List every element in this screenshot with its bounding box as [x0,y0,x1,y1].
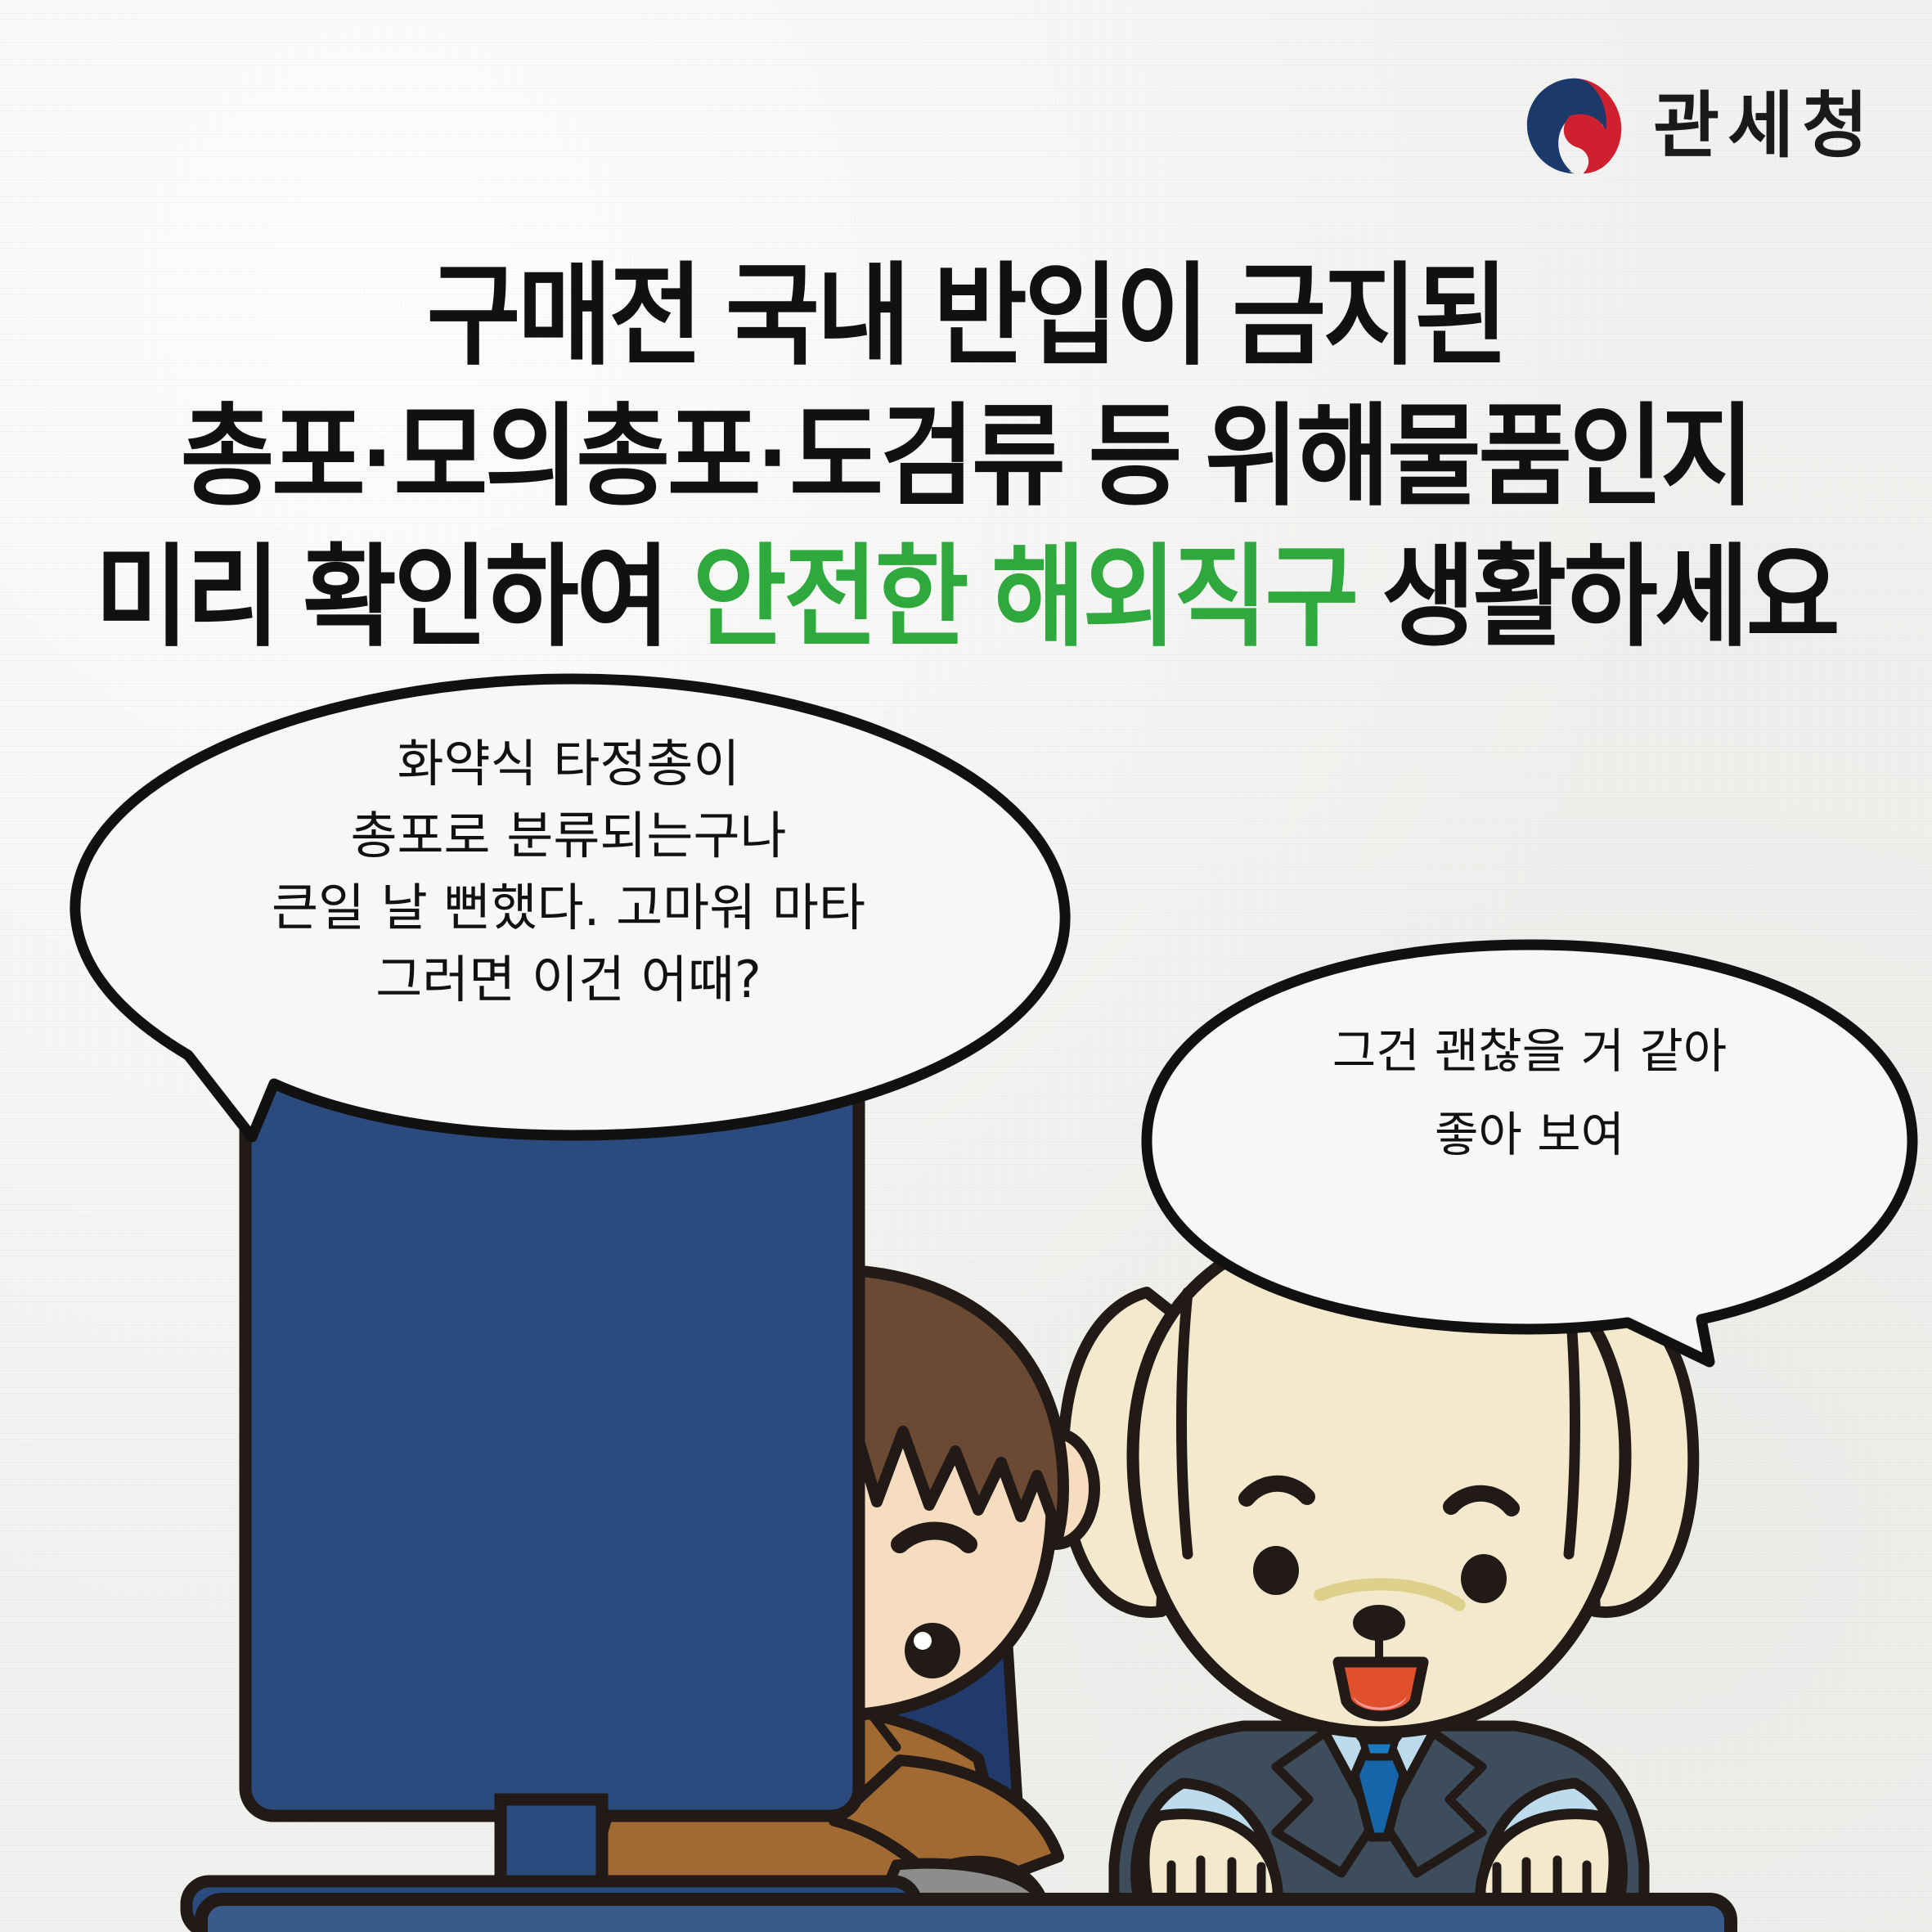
headline-block: 구매전 국내 반입이 금지된 총포·모의총포·도검류 등 위해물품인지 미리 확… [0,260,1932,653]
computer-monitor [186,1047,916,1932]
headline-line-3-highlight: 안전한 해외직구 [693,535,1356,659]
headline-line-2: 총포·모의총포·도검류 등 위해물품인지 [77,401,1854,512]
headline-line-3-before: 미리 확인하여 [95,535,693,659]
korea-government-taegeuk-logo-icon [1521,72,1629,180]
poster-canvas: 관세청 구매전 국내 반입이 금지된 총포·모의총포·도검류 등 위해물품인지 … [0,0,1932,1932]
headline-line-3-after: 생활하세요 [1356,535,1837,659]
desk [201,1899,1731,1932]
speech-bubble-left-text: 화약식 타정총이 총포로 분류되는구나 큰일 날 뻔했다. 고마워 마타 그러면… [106,728,1031,1016]
headline-line-3: 미리 확인하여 안전한 해외직구 생활하세요 [77,541,1854,653]
agency-logo-block: 관세청 [1521,72,1876,180]
headline-line-1: 구매전 국내 반입이 금지된 [77,260,1854,371]
agency-name-label: 관세청 [1653,90,1876,162]
speech-bubble-right-text: 그건 괜찮을 거 같아 좋아 보여 [1178,1010,1881,1176]
